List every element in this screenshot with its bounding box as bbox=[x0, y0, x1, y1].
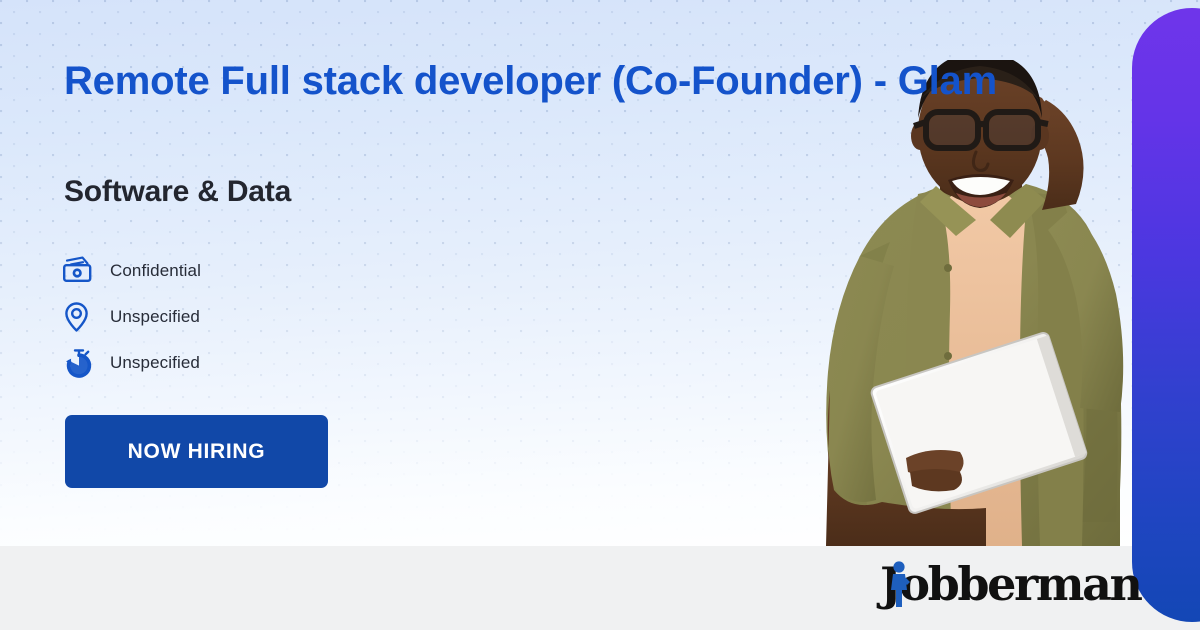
meta-label-location: Unspecified bbox=[110, 307, 200, 327]
meta-row-duration: Unspecified bbox=[62, 342, 201, 384]
meta-label-salary: Confidential bbox=[110, 261, 201, 281]
job-banner-canvas: Remote Full stack developer (Co-Founder)… bbox=[0, 0, 1200, 630]
stopwatch-icon bbox=[62, 347, 98, 379]
logo-wordmark: Jobberman bbox=[880, 557, 1141, 611]
meta-row-salary: Confidential bbox=[62, 250, 201, 292]
job-title: Remote Full stack developer (Co-Founder)… bbox=[64, 58, 1184, 104]
candidate-photo bbox=[790, 60, 1170, 546]
meta-label-duration: Unspecified bbox=[110, 353, 200, 373]
job-meta-list: Confidential Unspecified bbox=[62, 250, 201, 388]
jobberman-logo: Jobberman bbox=[880, 558, 1141, 610]
location-pin-icon bbox=[62, 301, 98, 333]
logo-person-icon bbox=[884, 560, 914, 608]
job-category: Software & Data bbox=[64, 175, 291, 209]
cash-icon bbox=[62, 256, 98, 286]
now-hiring-button[interactable]: NOW HIRING bbox=[65, 415, 328, 488]
meta-row-location: Unspecified bbox=[62, 296, 201, 338]
